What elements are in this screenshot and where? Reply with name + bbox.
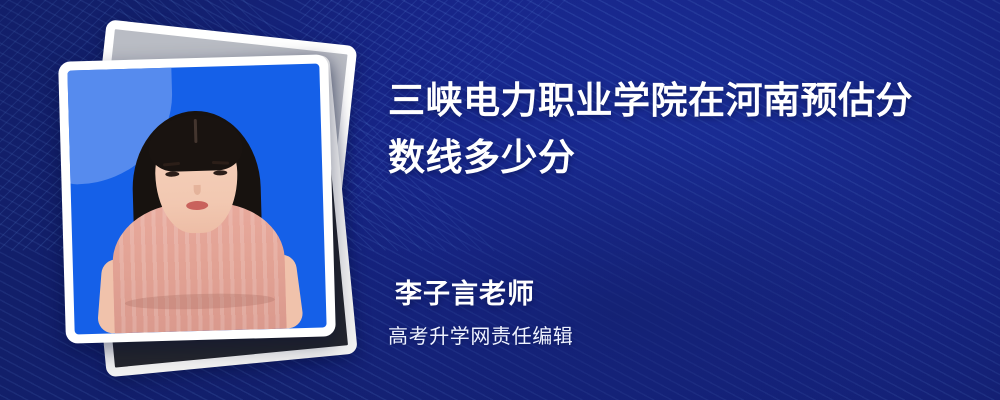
cover-text-column: 三峡电力职业学院在河南预估分数线多少分 李子言老师 高考升学网责任编辑 [388,0,968,400]
author-name: 李子言老师 [395,272,535,311]
author-role: 高考升学网责任编辑 [388,320,573,349]
portrait-nose [193,185,200,195]
page-title: 三峡电力职业学院在河南预估分数线多少分 [388,72,948,186]
article-cover-banner: 三峡电力职业学院在河南预估分数线多少分 李子言老师 高考升学网责任编辑 [0,0,1000,400]
photo-card-front [58,54,336,343]
author-portrait-photo [67,64,326,335]
portrait-illustration [67,64,326,335]
photo-card-stack [62,40,352,360]
